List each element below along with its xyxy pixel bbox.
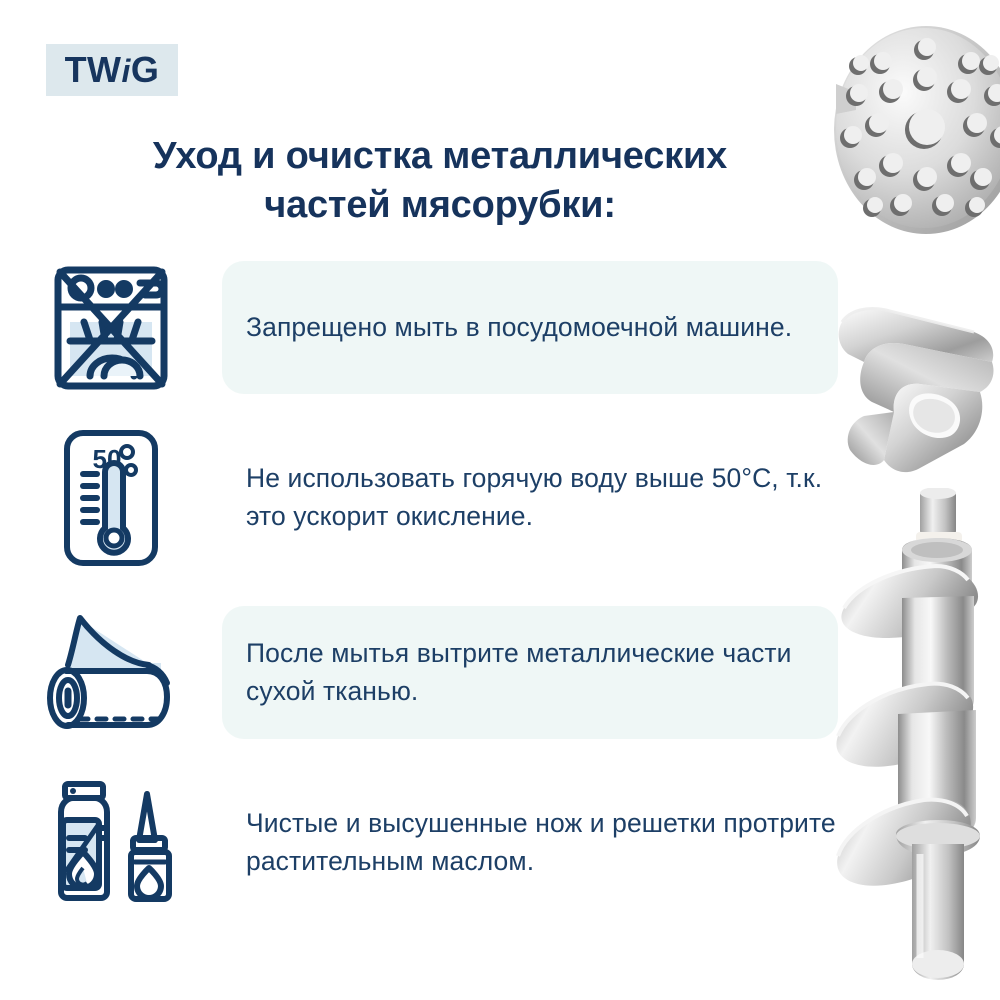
instruction-text: После мытья вытрите металлические части … (246, 635, 838, 710)
logo-part-g: G (131, 49, 160, 90)
oil-bottles-icon (0, 770, 222, 915)
instruction-panel: Не использовать горячую воду выше 50°C, … (222, 431, 838, 564)
page-title-line-2: частей мясорубки: (60, 181, 820, 230)
grinder-auger-photo (828, 488, 1000, 988)
instruction-text: Не использовать горячую воду выше 50°C, … (246, 460, 838, 535)
no-dishwasher-icon (0, 255, 222, 400)
brand-logo-text: TWiG (65, 52, 160, 88)
instruction-text: Запрещено мыть в посудомоечной машине. (246, 309, 792, 347)
page-title: Уход и очистка металлических частей мясо… (60, 132, 820, 229)
product-photo-column (815, 0, 1000, 1000)
thermometer-50c-icon: 50 (0, 425, 222, 570)
list-item: 50 Не использовать горячую воду выше 50°… (0, 425, 860, 570)
poster-root: TWiG Уход и очистка металлических частей… (0, 0, 1000, 1000)
list-item: Запрещено мыть в посудомоечной машине. (0, 255, 860, 400)
logo-part-tw: TW (65, 49, 122, 90)
instruction-panel: Запрещено мыть в посудомоечной машине. (222, 261, 838, 394)
instruction-text: Чистые и высушенные нож и решетки протри… (246, 805, 838, 880)
grinder-plate-photo (828, 22, 1000, 240)
instruction-panel: После мытья вытрите металлические части … (222, 606, 838, 739)
logo-part-i: i (122, 53, 131, 89)
list-item: Чистые и высушенные нож и решетки протри… (0, 770, 860, 915)
cloth-roll-icon (0, 600, 222, 745)
grinder-blade-photo (824, 292, 1000, 482)
brand-logo: TWiG (46, 44, 178, 96)
list-item: После мытья вытрите металлические части … (0, 600, 860, 745)
page-title-line-1: Уход и очистка металлических (60, 132, 820, 181)
instruction-panel: Чистые и высушенные нож и решетки протри… (222, 776, 838, 909)
